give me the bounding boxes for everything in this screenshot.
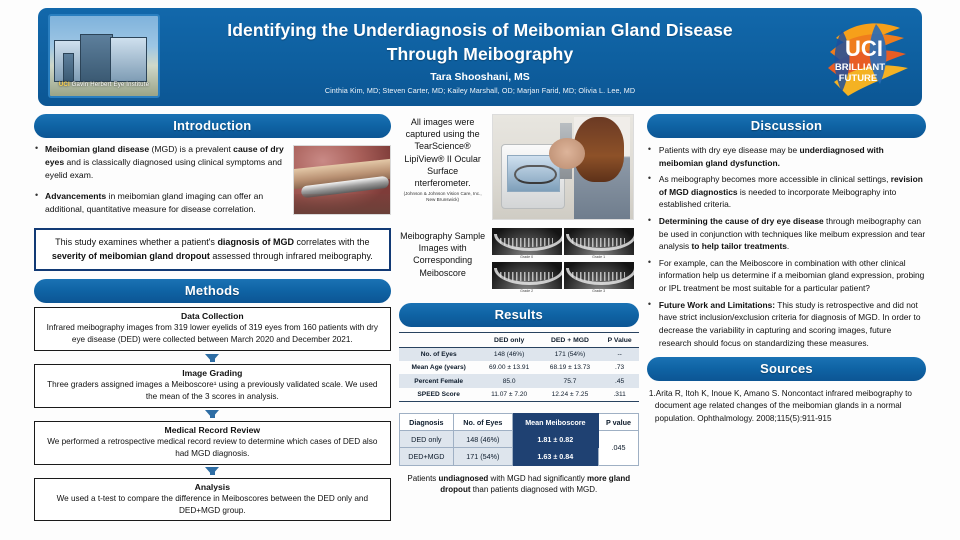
methods-step-medical-record-review: Medical Record Review We performed a ret… — [34, 421, 391, 465]
methods-step-title: Data Collection — [42, 311, 383, 321]
table-cell: .45 — [600, 374, 639, 387]
poster-coauthors: Cinthia Kim, MD; Steven Carter, MD; Kail… — [170, 86, 790, 95]
instrument-caption: All images were captured using the TearS… — [404, 117, 481, 188]
table-row: No. of Eyes 148 (46%) 171 (54%) -- — [399, 347, 639, 361]
results-meiboscore-table: Diagnosis No. of Eyes Mean Meiboscore P … — [399, 413, 639, 465]
introduction-body: Meibomian gland disease (MGD) is a preva… — [34, 143, 391, 224]
table-cell: Mean Age (years) — [399, 361, 479, 374]
table-header-row: DED only DED + MGD P Value — [399, 333, 639, 347]
results-demographics-table: DED only DED + MGD P Value No. of Eyes 1… — [399, 332, 639, 402]
meibography-sample: Grade 3 — [564, 262, 634, 294]
table-header-cell: P Value — [600, 333, 639, 347]
table-cell: SPEED Score — [399, 388, 479, 402]
meibography-sample-grid: Grade 0 Grade 1 Grade 2 Grade 3 — [492, 228, 634, 293]
uci-brilliant-future-logo-icon: UCI BRILLIANT FUTURE — [818, 12, 914, 102]
section-heading-results: Results — [399, 303, 639, 327]
flow-arrow-icon — [34, 351, 391, 364]
results-summary-note: Patients undiagnosed with MGD had signif… — [399, 473, 639, 496]
table-cell: 148 (46%) — [454, 431, 512, 448]
brilliant-text: BRILLIANT — [835, 62, 885, 73]
future-text: FUTURE — [839, 73, 878, 84]
table-cell: .311 — [600, 388, 639, 402]
table-cell: 148 (46%) — [479, 347, 540, 361]
list-item: As meibography becomes more accessible i… — [647, 173, 926, 211]
poster-primary-author: Tara Shooshani, MS — [170, 71, 790, 83]
poster-title-line1: Identifying the Underdiagnosis of Meibom… — [227, 20, 733, 40]
table-row: SPEED Score 11.07 ± 7.20 12.24 ± 7.25 .3… — [399, 388, 639, 402]
meibomian-gland-expression-photo — [293, 145, 391, 215]
left-logo-caption-text: Gavin Herbert Eye Institute — [70, 82, 149, 88]
methods-step-body: We performed a retrospective medical rec… — [42, 436, 383, 460]
table-header-cell: No. of Eyes — [454, 414, 512, 431]
table-cell: .73 — [600, 361, 639, 374]
methods-flowchart: Data Collection Infrared meibography ima… — [34, 307, 391, 521]
table-cell: No. of Eyes — [399, 347, 479, 361]
list-item: Patients with dry eye disease may be und… — [647, 144, 926, 169]
table-cell: -- — [600, 347, 639, 361]
table-row: DED only 148 (46%) 1.81 ± 0.82 .045 — [399, 431, 638, 448]
meibography-sample: Grade 2 — [492, 262, 562, 294]
table-header-cell — [399, 333, 479, 347]
meibography-sample-label: Grade 2 — [492, 289, 562, 294]
uci-brilliant-future-logo: UCI BRILLIANT FUTURE — [818, 12, 914, 102]
list-item: For example, can the Meiboscore in combi… — [647, 257, 926, 295]
meibography-sample: Grade 0 — [492, 228, 562, 260]
meibography-image — [564, 228, 634, 255]
introduction-text: Meibomian gland disease (MGD) is a preva… — [34, 143, 287, 224]
methods-step-analysis: Analysis We used a t-test to compare the… — [34, 478, 391, 522]
table-header-cell: P value — [599, 414, 639, 431]
list-item: Advancements in meibomian gland imaging … — [34, 190, 287, 216]
instrument-credit: (Johnson & Johnson Vision Care, Inc., Ne… — [399, 191, 487, 202]
table-cell: 171 (54%) — [454, 448, 512, 465]
section-heading-sources: Sources — [647, 357, 926, 381]
table-header-cell: Diagnosis — [399, 414, 454, 431]
meibography-samples-figure: Meibography Sample Images with Correspon… — [399, 228, 639, 293]
methods-step-body: We used a t-test to compare the differen… — [42, 493, 383, 517]
discussion-body: Patients with dry eye disease may be und… — [647, 144, 926, 349]
lipiview-instrument-photo — [492, 114, 634, 220]
flow-arrow-icon — [34, 408, 391, 421]
methods-step-title: Medical Record Review — [42, 425, 383, 435]
methods-section: Methods Data Collection Infrared meibogr… — [34, 279, 391, 521]
methods-step-data-collection: Data Collection Infrared meibography ima… — [34, 307, 391, 351]
table-cell: 68.19 ± 13.73 — [540, 361, 601, 374]
list-item: Determining the cause of dry eye disease… — [647, 215, 926, 253]
instrument-caption-block: All images were captured using the TearS… — [399, 114, 487, 203]
table-cell: DED only — [399, 431, 454, 448]
section-heading-introduction: Introduction — [34, 114, 391, 138]
table-header-cell: Mean Meiboscore — [512, 414, 599, 431]
meibography-sample-label: Grade 3 — [564, 289, 634, 294]
table-cell: 1.63 ± 0.84 — [512, 448, 599, 465]
methods-step-title: Image Grading — [42, 368, 383, 378]
discussion-bullet-list: Patients with dry eye disease may be und… — [647, 144, 926, 349]
poster-title-block: Identifying the Underdiagnosis of Meibom… — [170, 19, 790, 94]
meibography-image — [492, 262, 562, 289]
meibography-image — [564, 262, 634, 289]
table-header-cell: DED only — [479, 333, 540, 347]
methods-step-body: Three graders assigned images a Meibosco… — [42, 379, 383, 403]
methods-step-image-grading: Image Grading Three graders assigned ima… — [34, 364, 391, 408]
left-logo-caption-bold: UCI — [59, 82, 70, 88]
table-cell: Percent Female — [399, 374, 479, 387]
table-cell-pvalue: .045 — [599, 431, 639, 465]
flow-arrow-icon — [34, 465, 391, 478]
table-cell: 11.07 ± 7.20 — [479, 388, 540, 402]
table-cell: 1.81 ± 0.82 — [512, 431, 599, 448]
table-cell: 171 (54%) — [540, 347, 601, 361]
table-header-row: Diagnosis No. of Eyes Mean Meiboscore P … — [399, 414, 638, 431]
instrument-figure: All images were captured using the TearS… — [399, 114, 639, 220]
table-cell: 12.24 ± 7.25 — [540, 388, 601, 402]
table-cell: 85.0 — [479, 374, 540, 387]
table-cell: 69.00 ± 13.91 — [479, 361, 540, 374]
table-row: Mean Age (years) 69.00 ± 13.91 68.19 ± 1… — [399, 361, 639, 374]
table-cell: DED+MGD — [399, 448, 454, 465]
sources-section: Sources 1.Arita R, Itoh K, Inoue K, Aman… — [647, 357, 926, 425]
table-row: Percent Female 85.0 75.7 .45 — [399, 374, 639, 387]
list-item: Meibomian gland disease (MGD) is a preva… — [34, 143, 287, 182]
left-logo-caption: UCI Gavin Herbert Eye Institute — [50, 82, 158, 88]
methods-step-title: Analysis — [42, 482, 383, 492]
meibography-image — [492, 228, 562, 255]
source-entry: 1.Arita R, Itoh K, Inoue K, Amano S. Non… — [647, 388, 926, 425]
meibography-sample-label: Grade 0 — [492, 255, 562, 260]
uci-logo-text: UCI — [845, 36, 883, 61]
section-heading-methods: Methods — [34, 279, 391, 303]
methods-step-body: Infrared meibography images from 319 low… — [42, 322, 383, 346]
meibography-sample-label: Grade 1 — [564, 255, 634, 260]
results-section: Results DED only DED + MGD P Value No. o… — [399, 303, 639, 496]
meibography-sample: Grade 1 — [564, 228, 634, 260]
gavin-herbert-eye-institute-logo: UCI Gavin Herbert Eye Institute — [48, 14, 160, 98]
poster-header-banner: UCI Gavin Herbert Eye Institute Identify… — [38, 8, 922, 106]
poster-columns: Introduction Meibomian gland disease (MG… — [10, 114, 950, 538]
introduction-bullet-list: Meibomian gland disease (MGD) is a preva… — [34, 143, 287, 216]
column-left: Introduction Meibomian gland disease (MG… — [34, 114, 391, 538]
list-item: Future Work and Limitations: This study … — [647, 299, 926, 349]
study-aim-callout: This study examines whether a patient's … — [34, 228, 391, 271]
poster-root: UCI Gavin Herbert Eye Institute Identify… — [0, 0, 960, 540]
poster-title-line2: Through Meibography — [387, 44, 574, 64]
table-header-cell: DED + MGD — [540, 333, 601, 347]
column-middle: All images were captured using the TearS… — [399, 114, 639, 538]
column-right: Discussion Patients with dry eye disease… — [647, 114, 926, 538]
samples-caption: Meibography Sample Images with Correspon… — [399, 228, 487, 279]
section-heading-discussion: Discussion — [647, 114, 926, 138]
table-cell: 75.7 — [540, 374, 601, 387]
